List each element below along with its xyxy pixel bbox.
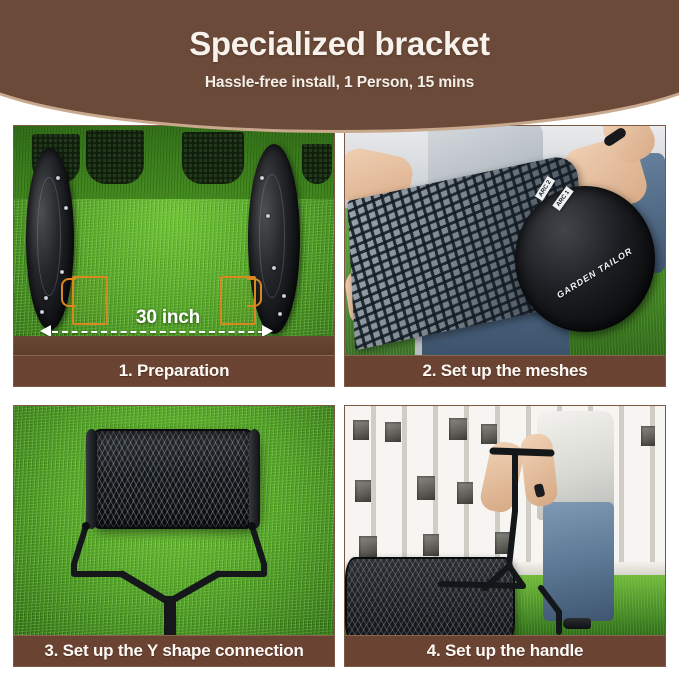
background-mesh-sheet-c — [182, 132, 244, 184]
step-4-caption: 4. Set up the handle — [345, 635, 665, 666]
page-subtitle: Hassle-free install, 1 Person, 15 mins — [0, 74, 679, 92]
step-1-caption: 1. Preparation — [14, 355, 334, 386]
rim-bolt — [60, 270, 64, 274]
rim-bolt — [278, 312, 282, 316]
step-2-caption: 2. Set up the meshes — [345, 355, 665, 386]
steps-grid: 30 inch 1. Preparation GARDEN TAILOR ARC… — [13, 125, 666, 667]
bracket-hook-left — [61, 278, 76, 307]
step-3-photo — [14, 406, 334, 635]
rim-bolt — [40, 310, 44, 314]
dimension-label: 30 inch — [136, 307, 200, 329]
rim-bolt — [260, 176, 264, 180]
step-panel-2: GARDEN TAILOR ARC 1 ARC 2 2. Set up the … — [344, 125, 666, 387]
background-mesh-sheet-b — [86, 130, 144, 184]
dimension-line — [52, 331, 264, 333]
rim-bolt — [64, 206, 68, 210]
y-handle-assembly — [14, 406, 334, 635]
header-banner-content: Specialized bracket Hassle-free install,… — [0, 0, 679, 92]
header-banner: Specialized bracket Hassle-free install,… — [0, 0, 679, 130]
step-4-photo — [345, 406, 665, 635]
rim-bolt — [44, 296, 48, 300]
background-mesh-sheet-d — [302, 144, 332, 184]
t-handle-assembly — [345, 406, 665, 635]
rim-bolt — [56, 176, 60, 180]
step-2-photo: GARDEN TAILOR ARC 1 ARC 2 — [345, 126, 665, 355]
end-plate: GARDEN TAILOR — [515, 186, 656, 333]
step-panel-4: 4. Set up the handle — [344, 405, 666, 667]
bracket-hook-right — [247, 278, 262, 307]
step-3-caption: 3. Set up the Y shape connection — [14, 635, 334, 666]
step-panel-1: 30 inch 1. Preparation — [13, 125, 335, 387]
soil-strip — [14, 336, 334, 355]
step-1-photo: 30 inch — [14, 126, 334, 355]
page-title: Specialized bracket — [0, 27, 679, 62]
bracket-highlight-left — [72, 276, 108, 325]
brand-label: GARDEN TAILOR — [555, 245, 634, 300]
rim-bolt — [266, 214, 270, 218]
rim-bolt — [282, 294, 286, 298]
step-panel-3: 3. Set up the Y shape connection — [13, 405, 335, 667]
rim-bolt — [272, 266, 276, 270]
